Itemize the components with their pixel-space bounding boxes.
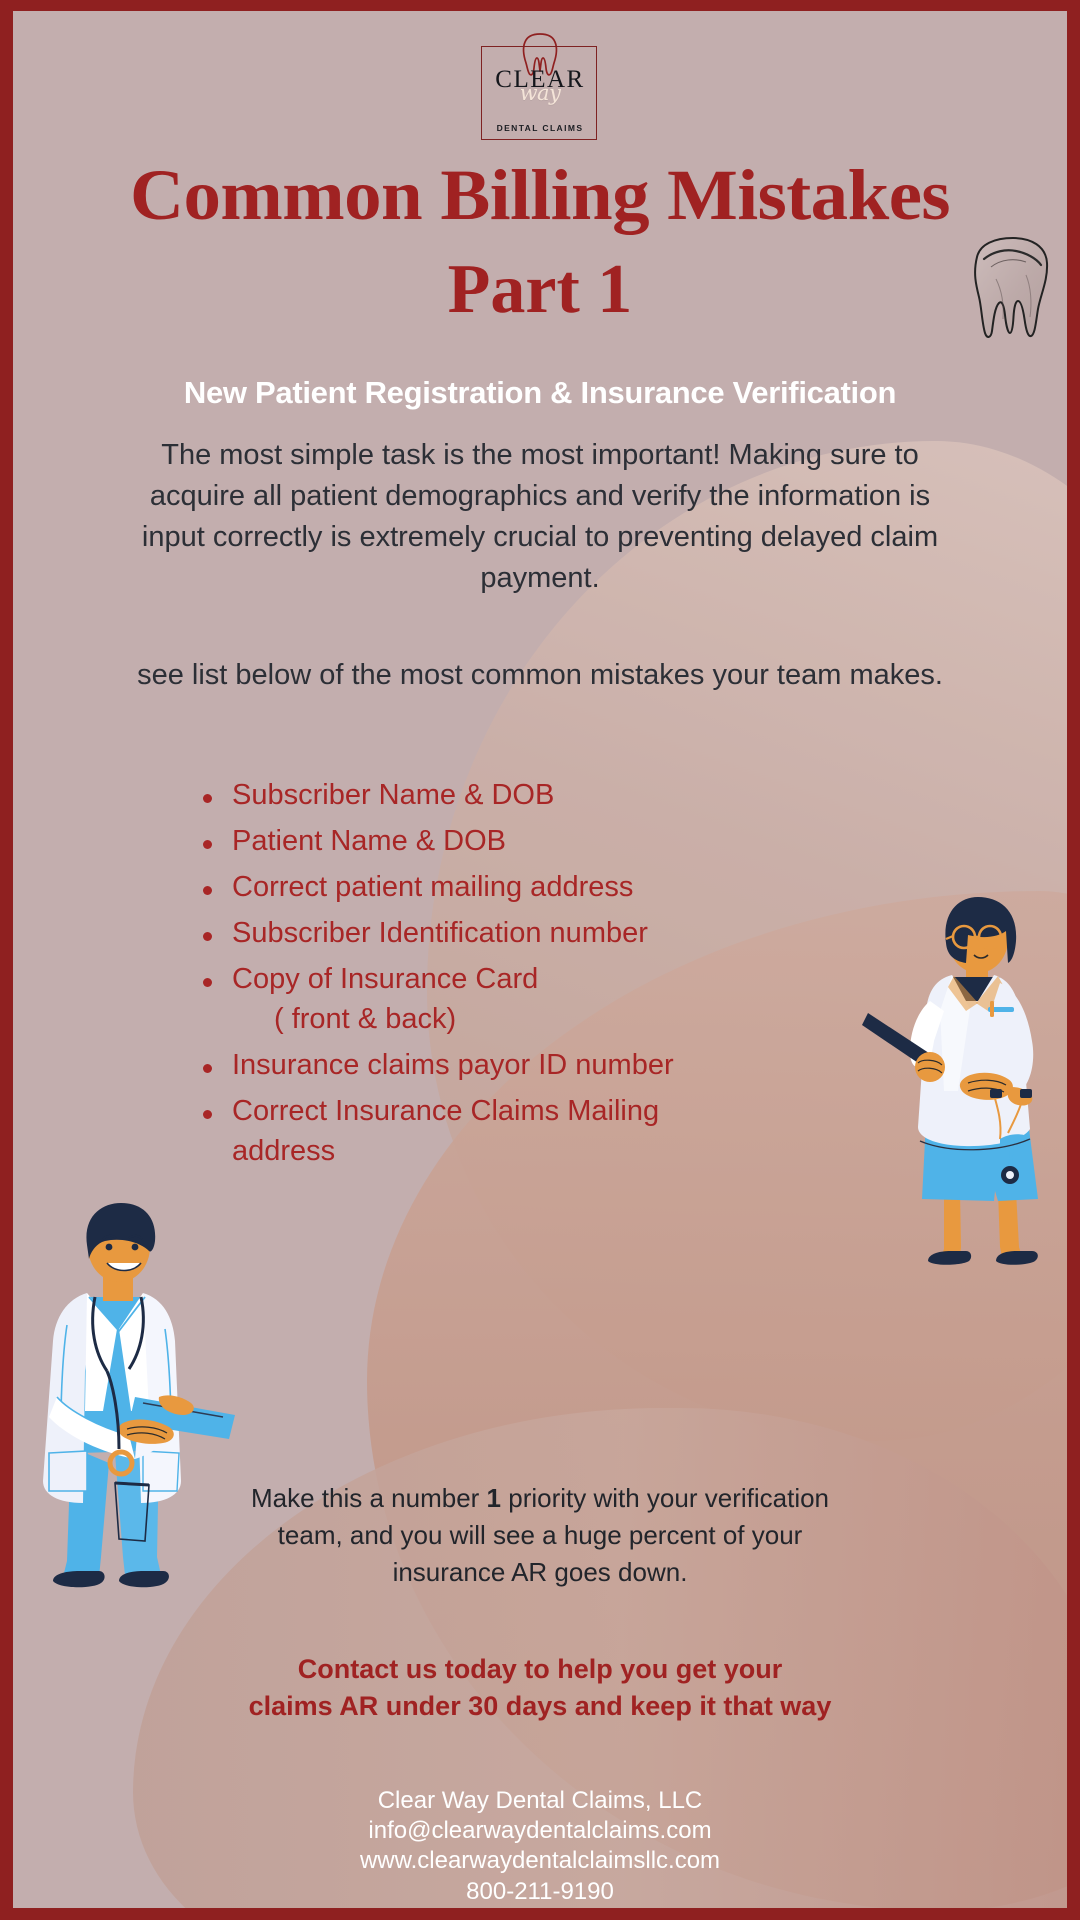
contact-footer: Clear Way Dental Claims, LLC info@clearw…: [160, 1786, 920, 1907]
page-title-line2: Part 1: [13, 254, 1067, 325]
section-subtitle: New Patient Registration & Insurance Ver…: [13, 375, 1067, 411]
list-item-label: Insurance claims payor ID number: [232, 1049, 674, 1081]
website-url[interactable]: www.clearwaydentalclaimsllc.com: [160, 1846, 920, 1876]
list-item-label: Correct patient mailing address: [232, 871, 633, 903]
list-item: Subscriber Identification number: [198, 919, 918, 948]
closing-paragraph: Make this a number 1 priority with your …: [220, 1480, 860, 1591]
list-item-subnote: ( front & back): [232, 1005, 918, 1034]
list-item: Correct patient mailing address: [198, 873, 918, 902]
page-title-line1: Common Billing Mistakes: [13, 159, 1067, 232]
list-item-continuation: address: [232, 1137, 918, 1166]
closing-text-part1: Make this a number: [251, 1483, 487, 1513]
list-item-label: Subscriber Identification number: [232, 917, 648, 949]
phone-number[interactable]: 800-211-9190: [160, 1877, 920, 1907]
list-lead-paragraph: see list below of the most common mistak…: [120, 655, 960, 696]
call-to-action: Contact us today to help you get your cl…: [190, 1651, 890, 1726]
logo-script-word: way: [481, 83, 599, 104]
poster-canvas: CLEAR way DENTAL CLAIMS Common Billing M…: [13, 11, 1067, 1908]
list-item: Copy of Insurance Card ( front & back): [198, 965, 918, 1034]
logo-tagline: DENTAL CLAIMS: [481, 123, 599, 133]
closing-emphasis: 1: [487, 1483, 501, 1513]
male-doctor-illustration: [23, 1201, 237, 1616]
intro-paragraph: The most simple task is the most importa…: [120, 435, 960, 599]
sketched-molar-tooth-icon: [968, 233, 1058, 346]
poster-frame: CLEAR way DENTAL CLAIMS Common Billing M…: [0, 0, 1080, 1920]
mistakes-list: Subscriber Name & DOB Patient Name & DOB…: [198, 781, 918, 1183]
list-item-label: Subscriber Name & DOB: [232, 779, 554, 811]
company-name: Clear Way Dental Claims, LLC: [160, 1786, 920, 1816]
email-address[interactable]: info@clearwaydentalclaims.com: [160, 1816, 920, 1846]
list-item-label: Correct Insurance Claims Mailing: [232, 1095, 659, 1127]
list-item: Subscriber Name & DOB: [198, 781, 918, 810]
cta-line-1: Contact us today to help you get your: [190, 1651, 890, 1688]
list-item-label: Patient Name & DOB: [232, 825, 506, 857]
list-item: Insurance claims payor ID number: [198, 1051, 918, 1080]
female-doctor-illustration: [848, 891, 1067, 1296]
list-item: Correct Insurance Claims Mailing address: [198, 1097, 918, 1166]
cta-line-2: claims AR under 30 days and keep it that…: [190, 1688, 890, 1725]
list-item-label: Copy of Insurance Card: [232, 963, 538, 995]
list-item: Patient Name & DOB: [198, 827, 918, 856]
brand-logo: CLEAR way DENTAL CLAIMS: [481, 31, 599, 143]
